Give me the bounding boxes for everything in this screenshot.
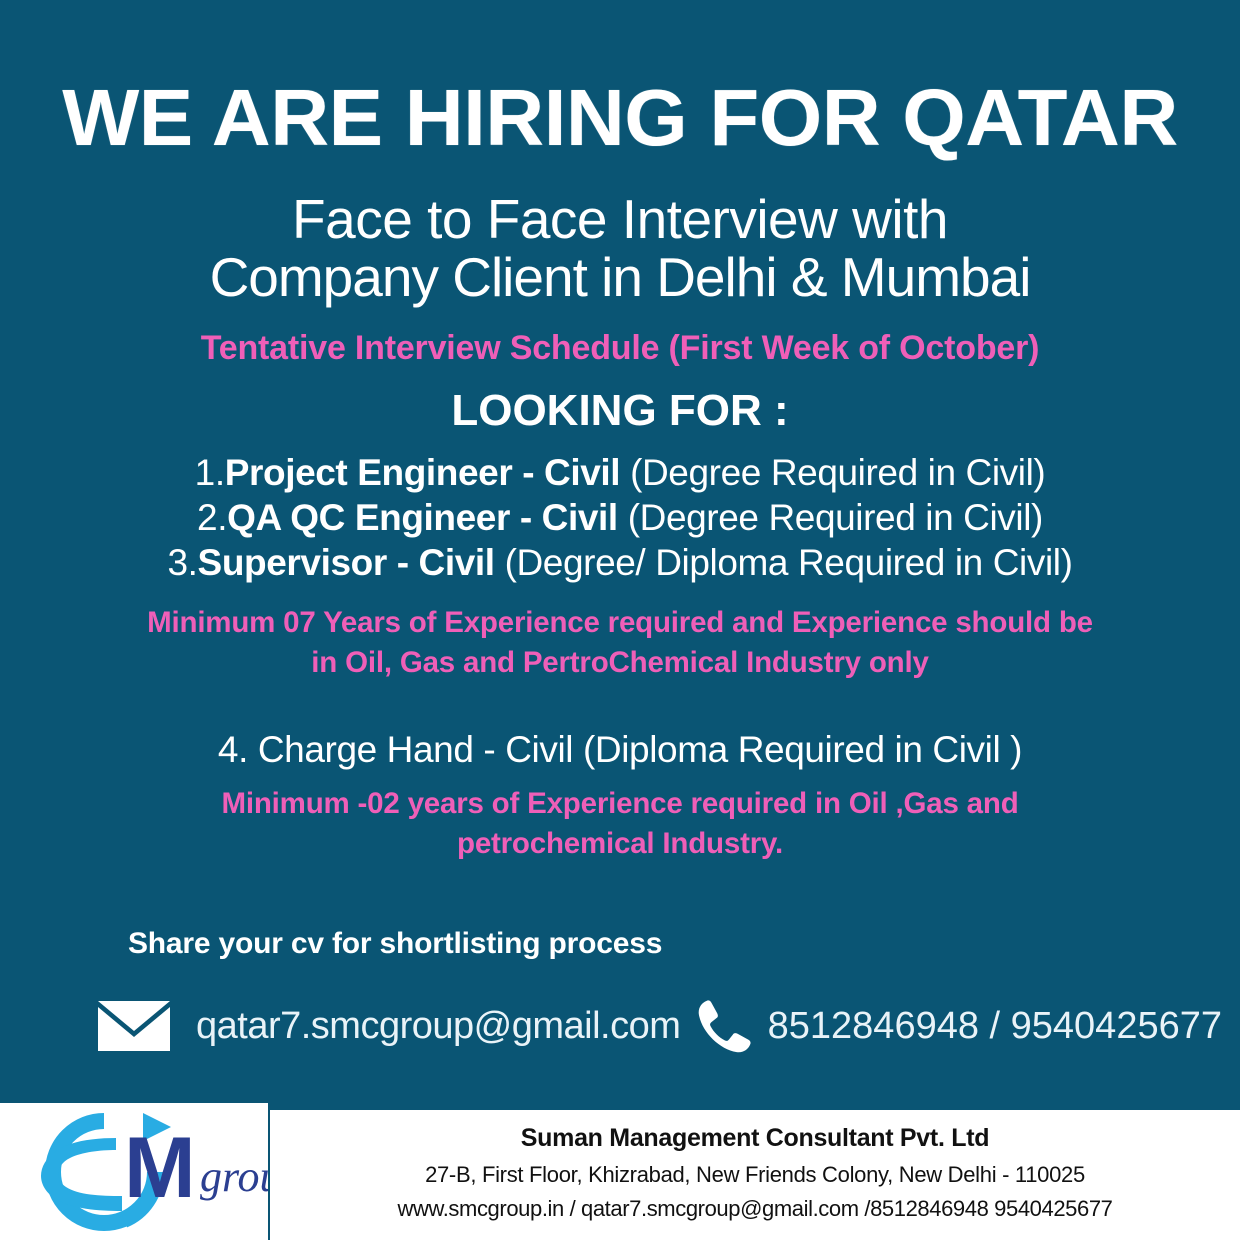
job-title: Supervisor - Civil bbox=[198, 542, 495, 583]
job-requirement: (Degree/ Diploma Required in Civil) bbox=[505, 542, 1073, 583]
job-item: 1.Project Engineer - Civil (Degree Requi… bbox=[18, 450, 1222, 495]
phone-icon bbox=[694, 995, 756, 1057]
job-requirement: (Degree Required in Civil) bbox=[628, 497, 1043, 538]
company-address: 27-B, First Floor, Khizrabad, New Friend… bbox=[270, 1162, 1240, 1188]
job-title: Charge Hand - Civil bbox=[258, 729, 573, 770]
job-requirement: (Diploma Required in Civil ) bbox=[583, 729, 1022, 770]
job-list: 1.Project Engineer - Civil (Degree Requi… bbox=[18, 450, 1222, 585]
sm-group-logo: M group bbox=[4, 1109, 268, 1234]
experience-note-2: Minimum -02 years of Experience required… bbox=[18, 784, 1222, 865]
job-number: 2. bbox=[197, 497, 227, 538]
looking-for-heading: LOOKING FOR : bbox=[18, 386, 1222, 436]
logo-group-text: group bbox=[200, 1155, 268, 1199]
job-number: 1. bbox=[195, 452, 225, 493]
footer-logo-panel: M group bbox=[0, 1103, 268, 1240]
job-item: 3.Supervisor - Civil (Degree/ Diploma Re… bbox=[18, 540, 1222, 585]
job-number: 4. bbox=[218, 729, 248, 770]
interview-schedule: Tentative Interview Schedule (First Week… bbox=[18, 329, 1222, 368]
contact-email[interactable]: qatar7.smcgroup@gmail.com bbox=[96, 998, 694, 1054]
footer-text-panel: Suman Management Consultant Pvt. Ltd 27-… bbox=[270, 1110, 1240, 1240]
experience-note-2-line-2: petrochemical Industry. bbox=[457, 827, 783, 860]
logo-letter-m: M bbox=[124, 1125, 196, 1211]
company-name: Suman Management Consultant Pvt. Ltd bbox=[270, 1124, 1240, 1153]
subtitle-line-1: Face to Face Interview with bbox=[292, 188, 948, 250]
phone-numbers: 8512846948 / 9540425677 bbox=[768, 1005, 1222, 1048]
contact-row: qatar7.smcgroup@gmail.com 8512846948 / 9… bbox=[18, 995, 1222, 1057]
job-title: Project Engineer - Civil bbox=[225, 452, 620, 493]
experience-note-line-1: Minimum 07 Years of Experience required … bbox=[147, 606, 1093, 639]
share-cv-text: Share your cv for shortlisting process bbox=[18, 927, 1222, 961]
company-web-contact: www.smcgroup.in / qatar7.smcgroup@gmail.… bbox=[270, 1196, 1240, 1222]
email-address: qatar7.smcgroup@gmail.com bbox=[196, 1005, 680, 1048]
contact-phone[interactable]: 8512846948 / 9540425677 bbox=[694, 995, 1222, 1057]
poster-content: WE ARE HIRING FOR QATAR Face to Face Int… bbox=[0, 0, 1240, 1240]
footer: M group Suman Management Consultant Pvt.… bbox=[0, 1103, 1240, 1240]
hiring-poster: WE ARE HIRING FOR QATAR Face to Face Int… bbox=[0, 0, 1240, 1240]
job-number: 3. bbox=[167, 542, 197, 583]
experience-note-line-2: in Oil, Gas and PertroChemical Industry … bbox=[311, 646, 928, 679]
envelope-icon bbox=[96, 998, 172, 1054]
subtitle-line-2: Company Client in Delhi & Mumbai bbox=[18, 248, 1222, 306]
job-requirement: (Degree Required in Civil) bbox=[630, 452, 1045, 493]
experience-note-2-line-1: Minimum -02 years of Experience required… bbox=[221, 787, 1018, 820]
subtitle: Face to Face Interview with Company Clie… bbox=[18, 190, 1222, 307]
job-title: QA QC Engineer - Civil bbox=[227, 497, 618, 538]
headline: WE ARE HIRING FOR QATAR bbox=[6, 78, 1234, 158]
experience-note: Minimum 07 Years of Experience required … bbox=[18, 603, 1222, 683]
job-item: 2.QA QC Engineer - Civil (Degree Require… bbox=[18, 495, 1222, 540]
job-item-4: 4. Charge Hand - Civil (Diploma Required… bbox=[18, 727, 1222, 772]
